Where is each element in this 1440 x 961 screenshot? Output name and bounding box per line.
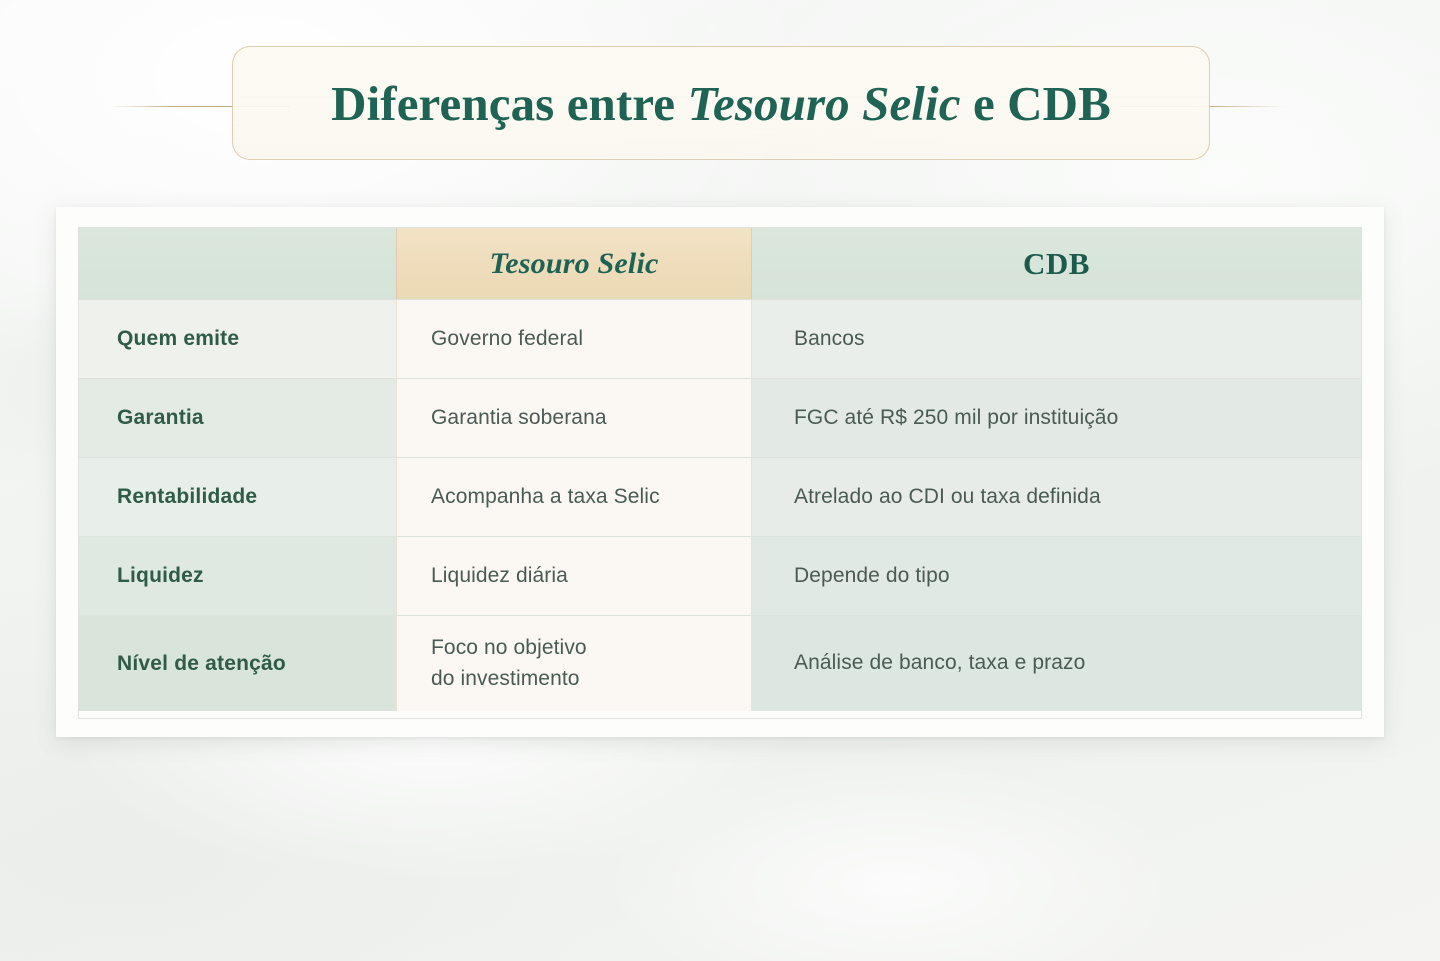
row-selic-nivel-line1: Foco no objetivo — [431, 633, 587, 663]
row-selic-nivel-de-atencao: Foco no objetivo do investimento — [396, 616, 752, 711]
row-cdb-rentabilidade: Atrelado ao CDI ou taxa definida — [752, 458, 1361, 536]
comparison-table: Tesouro Selic CDB Quem emite Governo fed… — [78, 227, 1362, 719]
table-row: Liquidez Liquidez diária Depende do tipo — [79, 536, 1361, 615]
title-area: Diferenças entre Tesouro Selic e CDB — [0, 0, 1440, 200]
row-selic-quem-emite: Governo federal — [396, 300, 752, 378]
table-row: Nível de atenção Foco no objetivo do inv… — [79, 615, 1361, 711]
row-selic-nivel-line2: do investimento — [431, 664, 587, 694]
title-prefix: Diferenças entre — [331, 76, 687, 131]
row-cdb-quem-emite: Bancos — [752, 300, 1361, 378]
header-label-cdb: CDB — [1023, 246, 1090, 282]
row-label-garantia: Garantia — [79, 379, 396, 457]
table-row: Quem emite Governo federal Bancos — [79, 299, 1361, 378]
header-cell-cdb: CDB — [752, 228, 1361, 299]
page-title: Diferenças entre Tesouro Selic e CDB — [331, 75, 1111, 132]
table-row: Garantia Garantia soberana FGC até R$ 25… — [79, 378, 1361, 457]
comparison-table-card: Tesouro Selic CDB Quem emite Governo fed… — [56, 207, 1384, 737]
row-label-liquidez: Liquidez — [79, 537, 396, 615]
row-selic-nivel-text: Foco no objetivo do investimento — [431, 633, 587, 694]
title-emphasis: Tesouro Selic — [687, 76, 960, 131]
header-cell-label — [79, 228, 396, 299]
header-cell-tesouro-selic: Tesouro Selic — [396, 228, 752, 299]
table-header-row: Tesouro Selic CDB — [79, 228, 1361, 299]
row-label-rentabilidade: Rentabilidade — [79, 458, 396, 536]
row-selic-garantia: Garantia soberana — [396, 379, 752, 457]
row-cdb-nivel-de-atencao: Análise de banco, taxa e prazo — [752, 616, 1361, 711]
row-cdb-garantia: FGC até R$ 250 mil por instituição — [752, 379, 1361, 457]
header-label-tesouro-selic: Tesouro Selic — [489, 247, 658, 281]
row-cdb-liquidez: Depende do tipo — [752, 537, 1361, 615]
row-label-nivel-de-atencao: Nível de atenção — [79, 616, 396, 711]
row-selic-rentabilidade: Acompanha a taxa Selic — [396, 458, 752, 536]
row-selic-liquidez: Liquidez diária — [396, 537, 752, 615]
table-row: Rentabilidade Acompanha a taxa Selic Atr… — [79, 457, 1361, 536]
row-label-quem-emite: Quem emite — [79, 300, 396, 378]
title-box: Diferenças entre Tesouro Selic e CDB — [232, 46, 1210, 160]
title-suffix: e CDB — [961, 76, 1111, 131]
